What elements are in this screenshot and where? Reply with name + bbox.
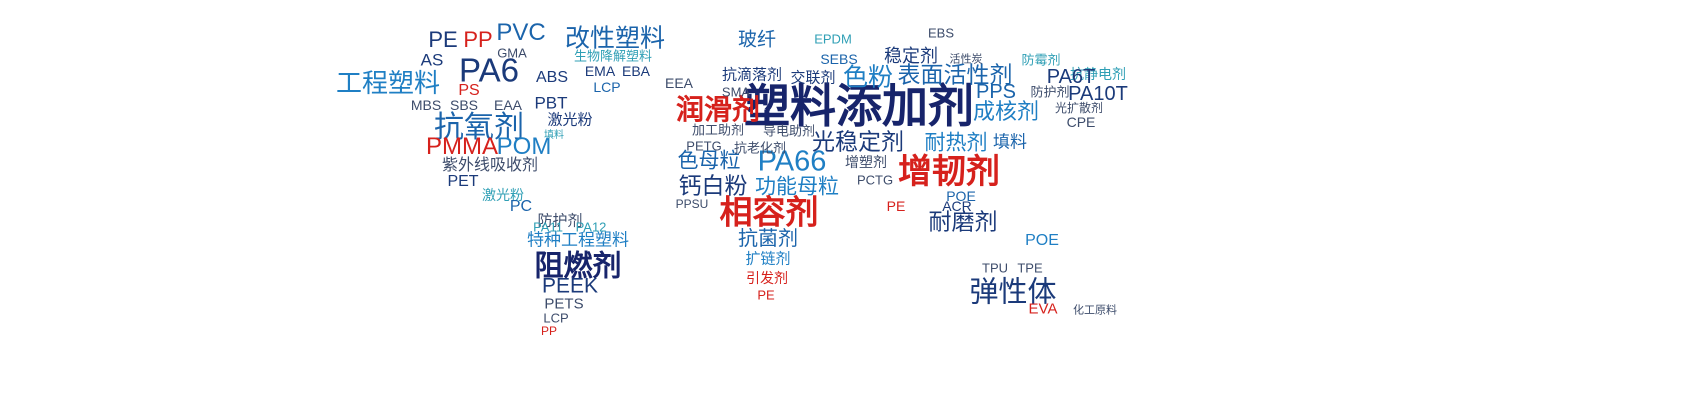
word-cloud-term[interactable]: 生物降解塑料 [574,51,652,64]
word-cloud-term[interactable]: 紫外线吸收剂 [442,157,538,173]
word-cloud-term[interactable]: 抗滴落剂 [722,68,782,83]
word-cloud-term[interactable]: 导电助剂 [763,126,815,139]
word-cloud-term[interactable]: TPE [1017,262,1042,275]
word-cloud-term[interactable]: 特种工程塑料 [527,233,629,250]
word-cloud-term[interactable]: PVC [496,21,545,45]
word-cloud-term[interactable]: 钙白粉 [679,176,748,199]
word-cloud-term[interactable]: PBT [534,95,567,112]
word-cloud-term[interactable]: SMA [722,86,750,99]
word-cloud-term[interactable]: PETS [544,297,583,312]
word-cloud-term[interactable]: EPDM [814,33,852,46]
word-cloud-term[interactable]: EAA [494,98,522,112]
word-cloud-term[interactable]: 抗老化剂 [734,143,786,156]
word-cloud-term[interactable]: PP [541,325,557,337]
word-cloud-term[interactable]: EMA [585,64,615,78]
word-cloud-term[interactable]: LCP [593,80,620,94]
word-cloud-term[interactable]: 稳定剂 [884,48,938,66]
word-cloud-term[interactable]: 工程塑料 [336,71,440,97]
word-cloud-term[interactable]: 抗菌剂 [738,228,798,248]
word-cloud-term[interactable]: 耐磨剂 [929,212,998,235]
word-cloud-term[interactable]: PE [757,289,774,302]
word-cloud-term[interactable]: 功能母粒 [755,177,839,198]
word-cloud-term[interactable]: PPS [976,82,1016,102]
word-cloud-term[interactable]: 增塑剂 [845,156,887,170]
word-cloud-term[interactable]: ACR [942,199,972,213]
word-cloud-term[interactable]: 相容剂 [720,196,819,229]
word-cloud-term[interactable]: LCP [543,312,568,325]
word-cloud-term[interactable]: 防护剂 [1030,87,1069,100]
word-cloud-term[interactable]: SEBS [820,52,857,66]
word-cloud-term[interactable]: 活性炭 [950,54,983,65]
word-cloud-term[interactable]: PET [447,174,478,190]
word-cloud-term[interactable]: PP [463,29,492,51]
word-cloud-term[interactable]: PA12 [576,221,607,234]
word-cloud-term[interactable]: 引发剂 [746,272,788,286]
word-cloud-term[interactable]: EVA [1029,302,1058,317]
word-cloud-term[interactable]: 扩链剂 [745,252,790,267]
word-cloud-term[interactable]: PEEK [542,276,598,297]
word-cloud-term[interactable]: PE [887,199,906,213]
word-cloud-term[interactable]: 改性塑料 [565,26,665,51]
word-cloud-term[interactable]: 激光粉 [547,113,592,128]
word-cloud-term[interactable]: PA10T [1068,84,1128,104]
word-cloud-term[interactable]: PCTG [857,174,893,187]
word-cloud-term[interactable]: PC [510,199,532,215]
word-cloud-term[interactable]: PETG [686,140,721,153]
word-cloud-term[interactable]: 填料 [993,135,1027,152]
word-cloud-term[interactable]: ABS [536,70,568,86]
word-cloud-term[interactable]: 成核剂 [973,102,1039,124]
word-cloud-term[interactable]: SBS [450,98,478,112]
word-cloud-canvas: 塑料添加剂增韧剂相容剂阻燃剂润滑剂弹性体抗氧剂工程塑料改性塑料表面活性剂光稳定剂… [0,0,1707,400]
word-cloud-term[interactable]: PPSU [676,198,709,210]
word-cloud-term[interactable]: 增韧剂 [898,155,1000,189]
word-cloud-term[interactable]: 玻纤 [738,31,776,50]
word-cloud-term[interactable]: 色粉 [843,65,893,90]
word-cloud-term[interactable]: 化工原料 [1073,305,1117,316]
word-cloud-term[interactable]: CPE [1067,115,1096,129]
word-cloud-term[interactable]: TPU [982,262,1008,275]
word-cloud-term[interactable]: POE [1025,233,1059,249]
word-cloud-term[interactable]: PA11 [533,221,563,234]
word-cloud-term[interactable]: 加工助剂 [692,125,744,138]
word-cloud-term[interactable]: EBS [928,27,954,40]
word-cloud-term[interactable]: GMA [497,47,527,60]
word-cloud-term[interactable]: EEA [665,76,693,90]
word-cloud-term[interactable]: 色母粒 [678,151,741,172]
word-cloud-term[interactable]: 交联剂 [790,71,835,86]
word-cloud-term[interactable]: 填料 [544,131,564,141]
word-cloud-term[interactable]: EBA [622,64,650,78]
word-cloud-term[interactable]: AS [421,52,444,69]
word-cloud-term[interactable]: MBS [411,98,441,112]
word-cloud-term[interactable]: PE [428,29,457,51]
word-cloud-term[interactable]: 耐热剂 [925,133,988,154]
word-cloud-term[interactable]: 润滑剂 [676,96,760,124]
